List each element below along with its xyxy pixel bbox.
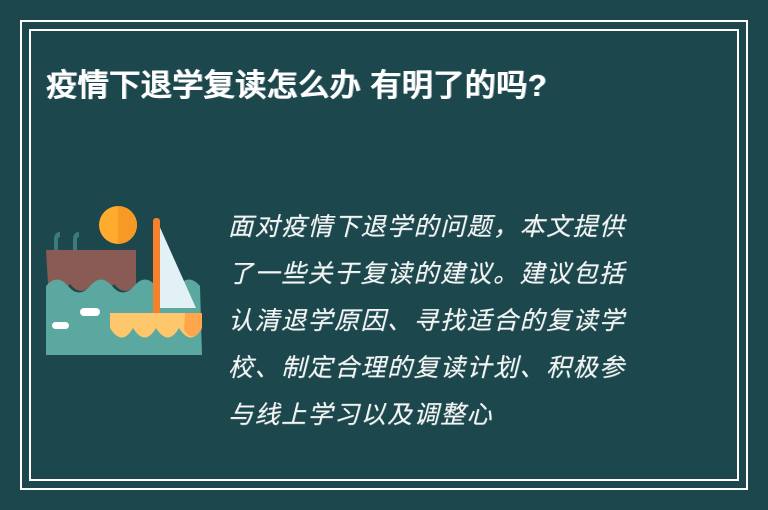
sun-shade-icon bbox=[118, 206, 137, 244]
page-title: 疫情下退学复读怎么办 有明了的吗? bbox=[46, 62, 686, 109]
page-root: { "page": { "background_color": "#1c474c… bbox=[0, 0, 768, 510]
pier-post-left-icon bbox=[54, 232, 60, 250]
illustration-svg bbox=[46, 200, 202, 366]
pier-post-right-icon bbox=[73, 232, 79, 250]
sailboat-harbor-illustration bbox=[46, 200, 202, 366]
water-ripple-right-icon bbox=[80, 308, 100, 316]
content-area: 面对疫情下退学的问题，本文提供了一些关于复读的建议。建议包括认清退学原因、寻找适… bbox=[46, 190, 722, 464]
water-ripple-left-icon bbox=[52, 322, 69, 329]
boat-mast-shape bbox=[153, 218, 160, 318]
article-summary: 面对疫情下退学的问题，本文提供了一些关于复读的建议。建议包括认清退学原因、寻找适… bbox=[228, 204, 648, 439]
